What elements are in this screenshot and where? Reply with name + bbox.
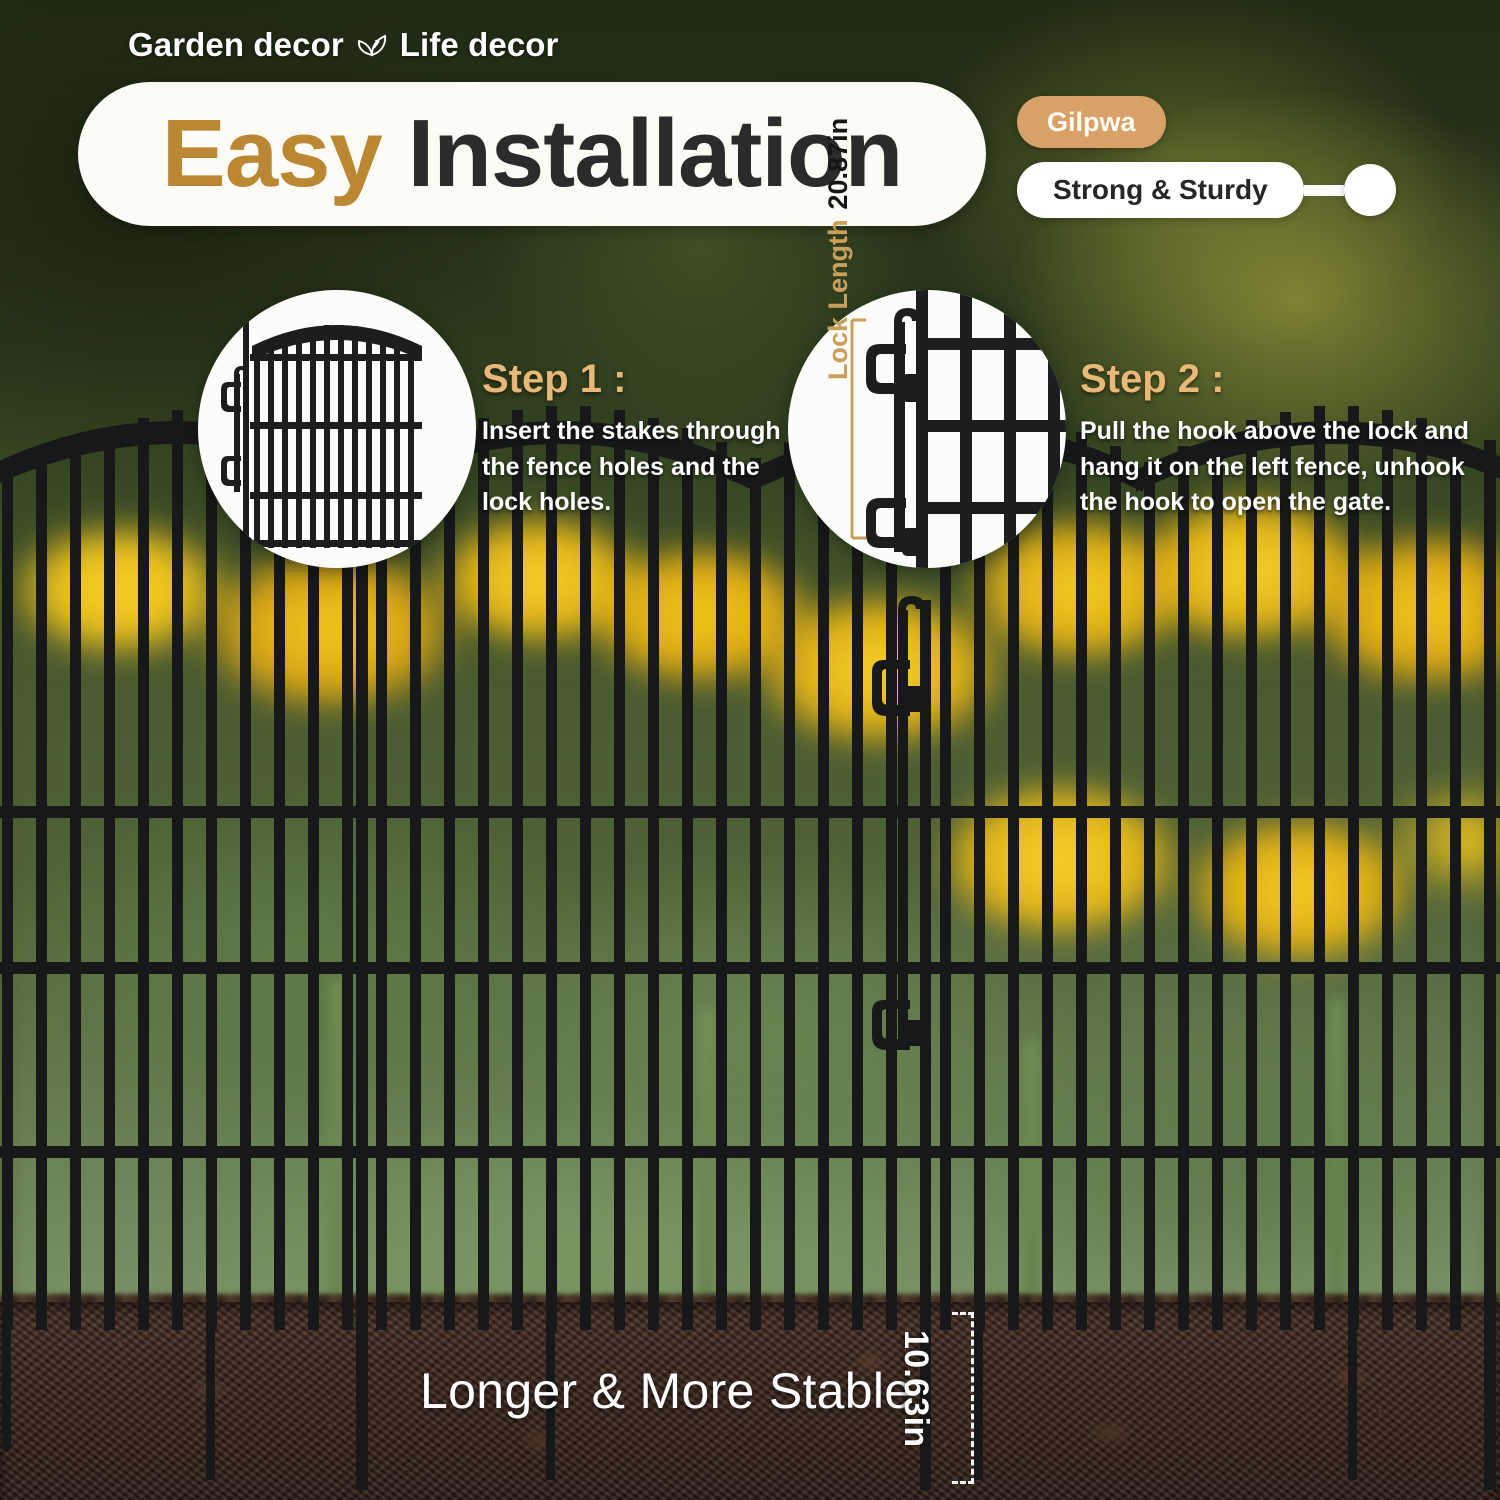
step-2-text-block: Step 2 : Pull the hook above the lock an… (1080, 358, 1480, 521)
brand-name-badge: Gilpwa (1017, 96, 1166, 148)
brand-tagline-right: Life decor (400, 26, 559, 64)
lock-length-value: 20.87in (823, 118, 854, 210)
step-2-heading: Step 2 : (1080, 358, 1480, 400)
step-1-text-block: Step 1 : Insert the stakes through the f… (482, 358, 812, 521)
fence-panel-with-lock-stake-icon (198, 290, 476, 568)
badge-connector-bar (1304, 185, 1344, 196)
burial-depth-bracket (952, 1312, 974, 1484)
step-1-illustration-circle (198, 290, 476, 568)
feature-badge: Strong & Sturdy (1017, 162, 1304, 218)
title-accent-word: Easy (162, 100, 382, 207)
product-marketing-image: Garden decor Life decor Easy Installatio… (0, 0, 1500, 1500)
brand-tagline: Garden decor Life decor (128, 26, 558, 64)
brand-tagline-left: Garden decor (128, 26, 344, 64)
step-1-heading: Step 1 : (482, 358, 812, 400)
lock-length-label: Lock Length (823, 220, 854, 381)
feature-badge-group: Strong & Sturdy (1017, 162, 1396, 218)
badge-connector-dot (1344, 164, 1396, 216)
page-title: Easy Installation (162, 106, 903, 202)
step-1-body: Insert the stakes through the fence hole… (482, 414, 812, 521)
step-2-body: Pull the hook above the lock and hang it… (1080, 414, 1480, 521)
lock-length-dimension: Lock Length 20.87in (818, 190, 858, 380)
footer-tagline: Longer & More Stable (420, 1362, 912, 1420)
burial-depth-value: 10.63in (901, 1330, 935, 1490)
leaf-sprout-icon (354, 31, 390, 59)
